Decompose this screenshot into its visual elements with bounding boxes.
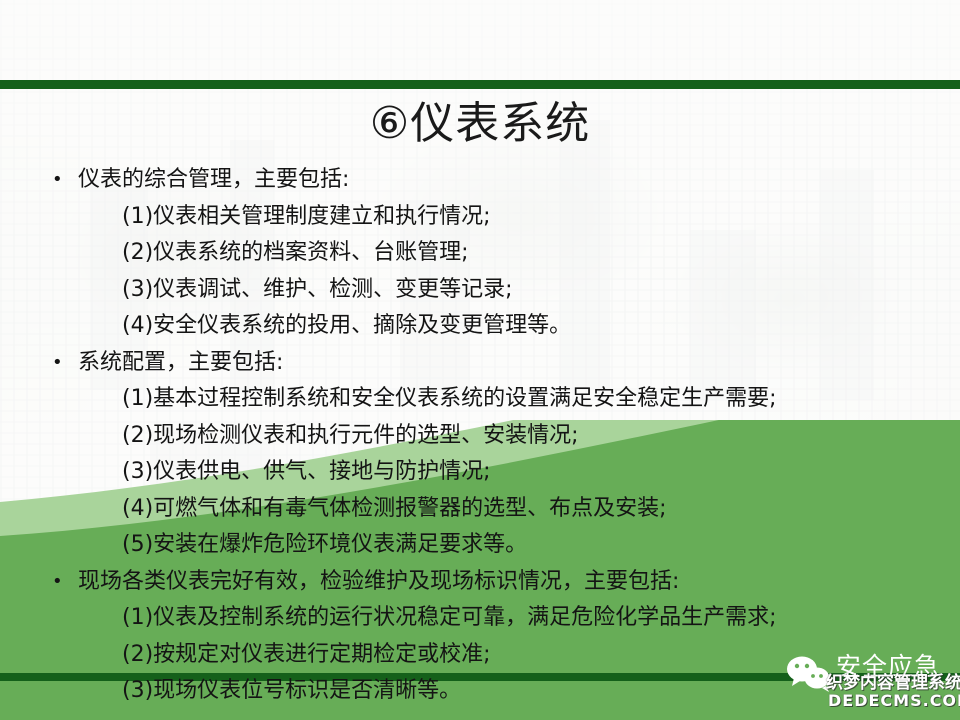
watermark: 安全应急 织梦内容管理系统 DEDECMS.COM bbox=[786, 648, 960, 706]
bullet-text: 仪表的综合管理，主要包括: bbox=[78, 167, 349, 192]
sub-line: (1)仪表及控制系统的运行状况稳定可靠，满足危险化学品生产需求; bbox=[52, 600, 932, 637]
sub-text: (3)仪表调试、维护、检测、变更等记录; bbox=[122, 277, 513, 302]
sub-text: (2)按规定对仪表进行定期检定或校准; bbox=[122, 642, 491, 667]
bullet-text: 系统配置，主要包括: bbox=[78, 350, 283, 375]
sub-text: (4)安全仪表系统的投用、摘除及变更管理等。 bbox=[122, 313, 571, 338]
bullet-text: 现场各类仪表完好有效，检验维护及现场标识情况，主要包括: bbox=[78, 569, 679, 594]
top-divider-rule bbox=[0, 80, 960, 89]
sub-text: (4)可燃气体和有毒气体检测报警器的选型、布点及安装; bbox=[122, 496, 667, 521]
bullet-marker: • bbox=[52, 345, 78, 382]
sub-line: (2)仪表系统的档案资料、台账管理; bbox=[52, 235, 932, 272]
sub-text: (3)现场仪表位号标识是否清晰等。 bbox=[122, 678, 461, 703]
slide-body: •仪表的综合管理，主要包括: (1)仪表相关管理制度建立和执行情况; (2)仪表… bbox=[52, 162, 932, 710]
sub-line: (1)基本过程控制系统和安全仪表系统的设置满足安全稳定生产需要; bbox=[52, 381, 932, 418]
slide-canvas: ⑥仪表系统 •仪表的综合管理，主要包括: (1)仪表相关管理制度建立和执行情况;… bbox=[0, 0, 960, 720]
sub-text: (5)安装在爆炸危险环境仪表满足要求等。 bbox=[122, 532, 527, 557]
bullet-line: •仪表的综合管理，主要包括: bbox=[52, 162, 932, 199]
sub-line: (1)仪表相关管理制度建立和执行情况; bbox=[52, 199, 932, 236]
sub-text: (3)仪表供电、供气、接地与防护情况; bbox=[122, 459, 491, 484]
sub-line: (2)现场检测仪表和执行元件的选型、安装情况; bbox=[52, 418, 932, 455]
sub-line: (3)仪表调试、维护、检测、变更等记录; bbox=[52, 272, 932, 309]
bullet-marker: • bbox=[52, 162, 78, 199]
dedecms-en-label: DEDECMS.COM bbox=[828, 692, 960, 710]
sub-line: (4)安全仪表系统的投用、摘除及变更管理等。 bbox=[52, 308, 932, 345]
sub-text: (1)仪表相关管理制度建立和执行情况; bbox=[122, 204, 491, 229]
bullet-line: •系统配置，主要包括: bbox=[52, 345, 932, 382]
sub-line: (4)可燃气体和有毒气体检测报警器的选型、布点及安装; bbox=[52, 491, 932, 528]
sub-text: (2)现场检测仪表和执行元件的选型、安装情况; bbox=[122, 423, 579, 448]
sub-text: (1)基本过程控制系统和安全仪表系统的设置满足安全稳定生产需要; bbox=[122, 386, 777, 411]
sub-line: (5)安装在爆炸危险环境仪表满足要求等。 bbox=[52, 527, 932, 564]
page-title: ⑥仪表系统 bbox=[0, 96, 960, 152]
bullet-marker: • bbox=[52, 564, 78, 601]
sub-line: (3)仪表供电、供气、接地与防护情况; bbox=[52, 454, 932, 491]
dedecms-cn-label: 织梦内容管理系统 bbox=[826, 673, 960, 693]
sub-text: (1)仪表及控制系统的运行状况稳定可靠，满足危险化学品生产需求; bbox=[122, 605, 777, 630]
sub-text: (2)仪表系统的档案资料、台账管理; bbox=[122, 240, 469, 265]
bullet-line: •现场各类仪表完好有效，检验维护及现场标识情况，主要包括: bbox=[52, 564, 932, 601]
